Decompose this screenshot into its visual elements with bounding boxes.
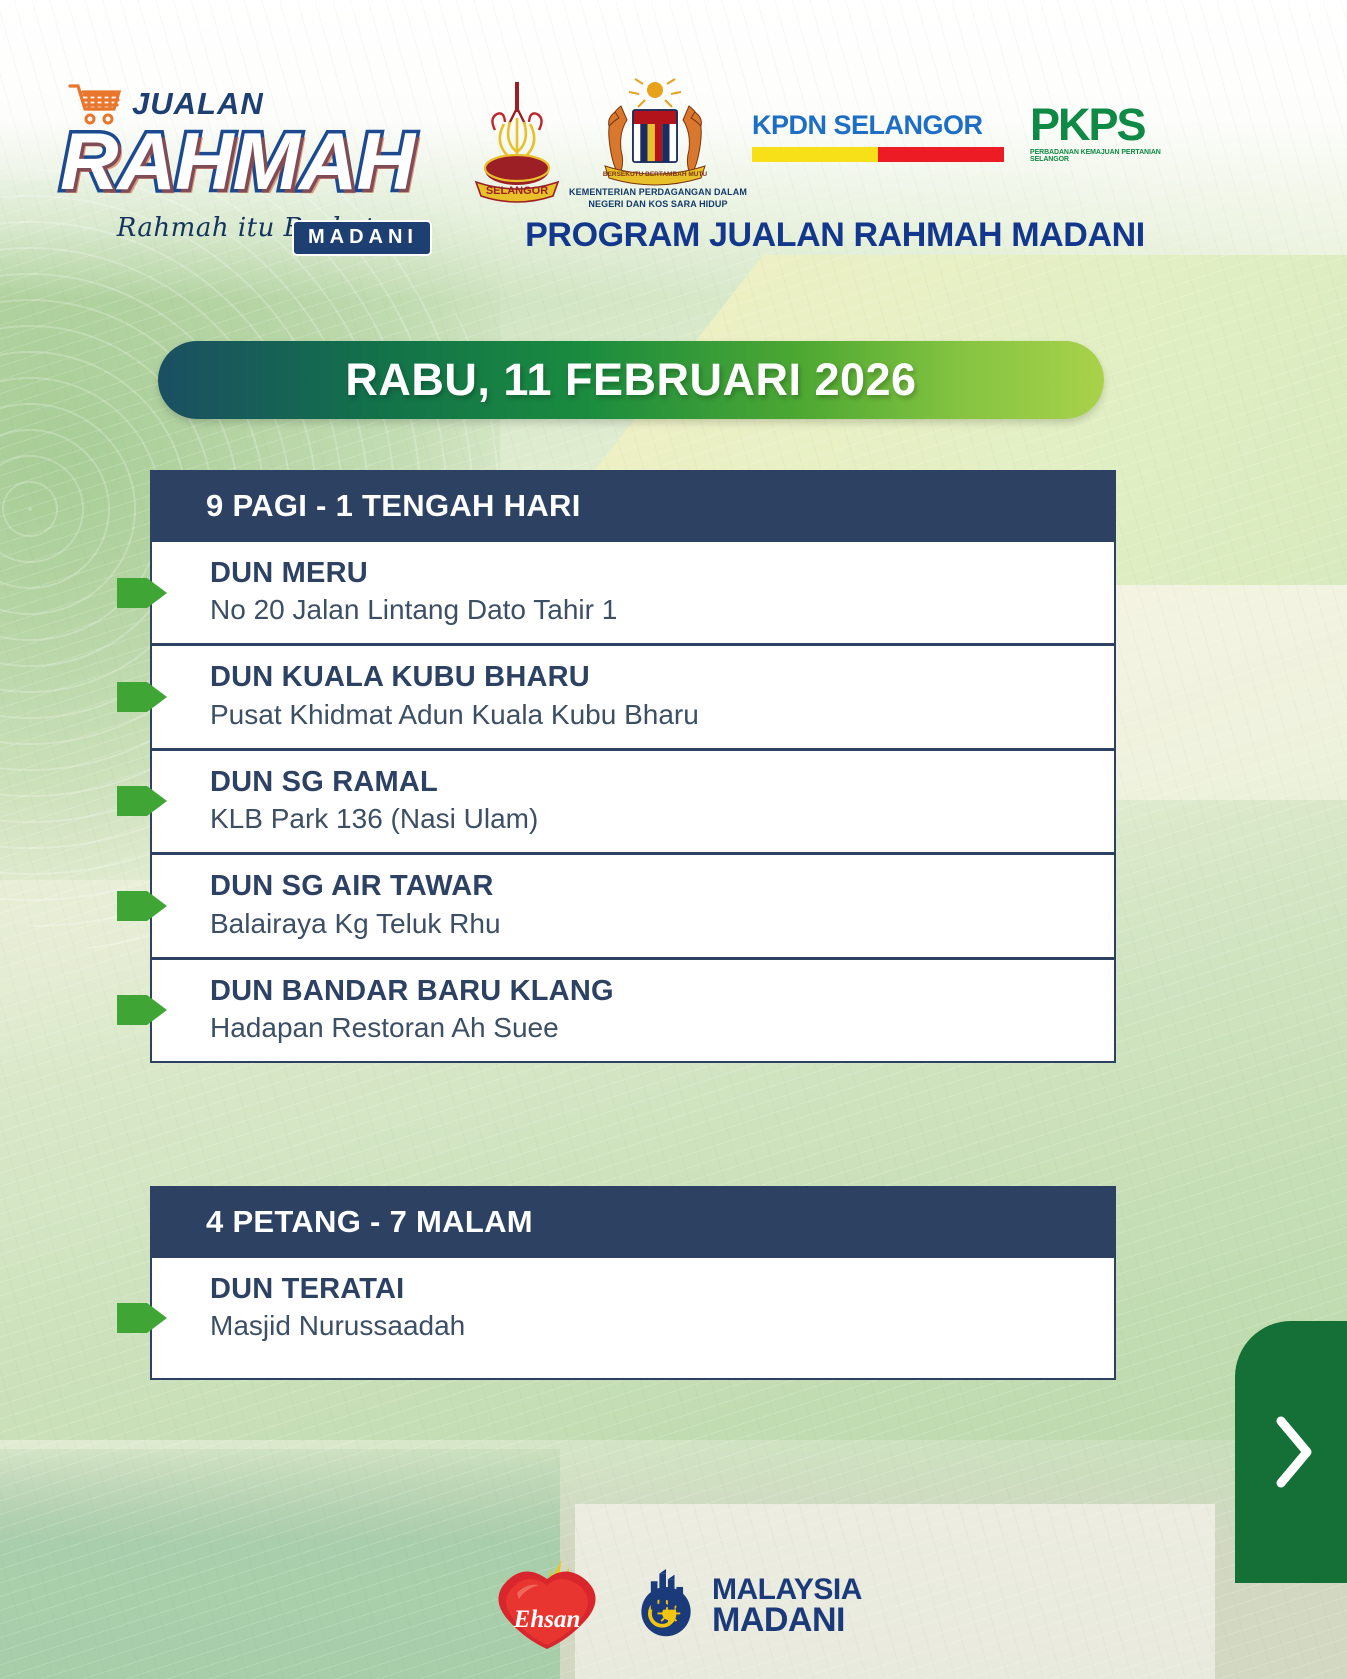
schedule-rows-evening: DUN TERATAI Masjid Nurussaadah (150, 1258, 1116, 1380)
schedule-block-evening: 4 PETANG - 7 MALAM DUN TERATAI Masjid Nu… (150, 1186, 1116, 1380)
ehsan-logo: Ehsan (487, 1553, 607, 1653)
dun-name: DUN TERATAI (210, 1272, 1094, 1307)
brand-rahmah-text: RAHMAH (60, 124, 436, 201)
svg-text:BERSEKUTU BERTAMBAH MUTU: BERSEKUTU BERTAMBAH MUTU (603, 171, 708, 178)
slot-header-evening: 4 PETANG - 7 MALAM (150, 1186, 1116, 1258)
green-arrow-icon (117, 572, 169, 614)
program-title: PROGRAM JUALAN RAHMAH MADANI (455, 216, 1215, 255)
schedule-rows-morning: DUN MERU No 20 Jalan Lintang Dato Tahir … (150, 542, 1116, 1063)
table-row[interactable]: DUN SG RAMAL KLB Park 136 (Nasi Ulam) (152, 748, 1114, 852)
brand-madani-badge: MADANI (292, 220, 432, 256)
pkps-logo-subtext: PERBADANAN KEMAJUAN PERTANIAN SELANGOR (1030, 149, 1200, 163)
madani-emblem-icon (630, 1568, 702, 1645)
malaysia-coat-of-arms-icon: BERSEKUTU BERTAMBAH MUTU (575, 78, 735, 190)
dun-name: DUN SG RAMAL (210, 765, 1094, 800)
ministry-caption: KEMENTERIAN PERDAGANGAN DALAM NEGERI DAN… (558, 186, 758, 210)
green-arrow-icon (117, 885, 169, 927)
green-arrow-icon (117, 989, 169, 1031)
green-arrow-icon (117, 1297, 169, 1339)
pkps-logo: PKPS PERBADANAN KEMAJUAN PERTANIAN SELAN… (1030, 104, 1200, 163)
malaysia-madani-logo: MALAYSIA MADANI (630, 1565, 930, 1647)
table-row[interactable]: DUN BANDAR BARU KLANG Hadapan Restoran A… (152, 957, 1114, 1061)
selangor-crest-icon: SELANGOR (462, 78, 572, 203)
date-banner-text: RABU, 11 FEBRUARI 2026 (345, 354, 916, 406)
date-banner: RABU, 11 FEBRUARI 2026 (158, 341, 1104, 419)
slot-header-morning: 9 PAGI - 1 TENGAH HARI (150, 470, 1116, 542)
venue-name: No 20 Jalan Lintang Dato Tahir 1 (210, 592, 1094, 627)
next-slide-button[interactable] (1235, 1321, 1347, 1583)
svg-text:SELANGOR: SELANGOR (486, 185, 548, 197)
madani-logo-text: MALAYSIA MADANI (712, 1575, 862, 1638)
table-row[interactable]: DUN TERATAI Masjid Nurussaadah (152, 1258, 1114, 1378)
kpdn-color-bars (752, 147, 1004, 162)
venue-name: Pusat Khidmat Adun Kuala Kubu Bharu (210, 697, 1094, 732)
poster-header: JUALAN RAHMAH MADANI Rahmah itu Berkat (0, 0, 1347, 275)
rahmah-brand-logo: JUALAN RAHMAH MADANI Rahmah itu Berkat (56, 80, 436, 243)
schedule-block-morning: 9 PAGI - 1 TENGAH HARI DUN MERU No 20 Ja… (150, 470, 1116, 1063)
table-row[interactable]: DUN MERU No 20 Jalan Lintang Dato Tahir … (152, 542, 1114, 643)
dun-name: DUN SG AIR TAWAR (210, 869, 1094, 904)
pkps-logo-text: PKPS (1030, 104, 1200, 147)
venue-name: KLB Park 136 (Nasi Ulam) (210, 801, 1094, 836)
slot-header-text: 4 PETANG - 7 MALAM (206, 1204, 533, 1240)
kpdn-logo-text: KPDN SELANGOR (752, 110, 1004, 141)
svg-text:Ehsan: Ehsan (513, 1606, 581, 1633)
venue-name: Hadapan Restoran Ah Suee (210, 1010, 1094, 1045)
green-arrow-icon (117, 780, 169, 822)
poster-canvas: JUALAN RAHMAH MADANI Rahmah itu Berkat (0, 0, 1347, 1679)
chevron-right-icon (1271, 1415, 1317, 1489)
green-arrow-icon (117, 676, 169, 718)
dun-name: DUN MERU (210, 556, 1094, 591)
dun-name: DUN KUALA KUBU BHARU (210, 660, 1094, 695)
kpdn-selangor-logo: KPDN SELANGOR (752, 110, 1004, 162)
footer-logos: Ehsan (0, 1547, 1347, 1657)
table-row[interactable]: DUN SG AIR TAWAR Balairaya Kg Teluk Rhu (152, 852, 1114, 956)
dun-name: DUN BANDAR BARU KLANG (210, 974, 1094, 1009)
venue-name: Masjid Nurussaadah (210, 1308, 1094, 1343)
table-row[interactable]: DUN KUALA KUBU BHARU Pusat Khidmat Adun … (152, 643, 1114, 747)
kpdn-red-bar (878, 147, 1004, 162)
madani-line-madani: MADANI (712, 1601, 845, 1639)
kpdn-yellow-bar (752, 147, 878, 162)
venue-name: Balairaya Kg Teluk Rhu (210, 906, 1094, 941)
slot-header-text: 9 PAGI - 1 TENGAH HARI (206, 488, 581, 524)
